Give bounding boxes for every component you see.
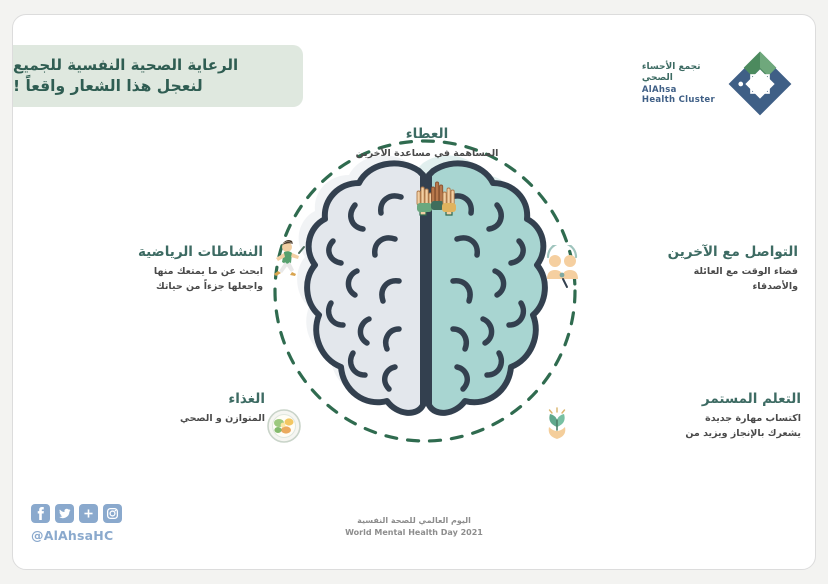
label-social: التواصل مع الآخرين قضاء الوقت مع العائلة… [598,243,798,294]
footer-caption: اليوم العالمي للصحة النفسية World Mental… [13,515,815,539]
label-sports: النشاطات الرياضية ابحث عن ما يمتعك منها … [68,243,263,294]
logo-english-line-1: AlAhsa [642,85,677,96]
svg-text:كن: كن [753,78,768,93]
label-food: الغذاء المتوازن و الصحي [105,390,265,427]
label-giving: العطاء المساهمة في مساعدة الآخرين [322,125,532,162]
infographic-card: الرعاية الصحية النفسية للجميع لنعجل هذا … [12,14,816,570]
footer-caption-arabic: اليوم العالمي للصحة النفسية [13,515,815,527]
label-learning-subtitle-1: اكتساب مهارة جديدة [601,412,801,427]
label-social-subtitle-1: قضاء الوقت مع العائلة [598,265,798,280]
diagram-stage: العطاء المساهمة في مساعدة الآخرين النشاط… [13,115,815,515]
label-social-subtitle-2: والأصدقاء [598,280,798,295]
growing-plant-idea-icon [534,400,580,446]
label-learning: التعلم المستمر اكتساب مهارة جديدة يشعرك … [601,390,801,441]
raised-hands-icon [413,175,459,221]
label-giving-title: العطاء [322,125,532,144]
label-food-subtitle: المتوازن و الصحي [105,412,265,427]
running-person-icon [262,237,308,283]
logo-arabic-line-1: تجمع الأحساء [642,62,701,73]
logo-english-line-2: Health Cluster [642,95,715,106]
label-food-title: الغذاء [105,390,265,409]
header-banner: الرعاية الصحية النفسية للجميع لنعجل هذا … [13,45,303,107]
alahsa-health-cluster-diamond-mark: كن [723,47,797,121]
footer-caption-english: World Mental Health Day 2021 [13,527,815,539]
banner-line-1: الرعاية الصحية النفسية للجميع [13,55,238,75]
label-sports-subtitle-2: واجعلها جزءاً من حياتك [68,280,263,295]
label-learning-title: التعلم المستمر [601,390,801,409]
two-people-talking-icon [539,245,585,291]
logo-arabic-line-2: الصحي [642,73,673,84]
label-giving-subtitle: المساهمة في مساعدة الآخرين [322,147,532,162]
label-learning-subtitle-2: يشعرك بالإنجاز ويزيد من [601,427,801,442]
organization-logo: كن تجمع الأحساء الصحي AlAhsa Health Clus… [642,47,797,121]
banner-line-2: لنعجل هذا الشعار واقعاً ! [13,76,203,97]
label-sports-title: النشاطات الرياضية [68,243,263,262]
healthy-food-plate-icon [261,403,307,449]
label-sports-subtitle-1: ابحث عن ما يمتعك منها [68,265,263,280]
label-social-title: التواصل مع الآخرين [598,243,798,262]
